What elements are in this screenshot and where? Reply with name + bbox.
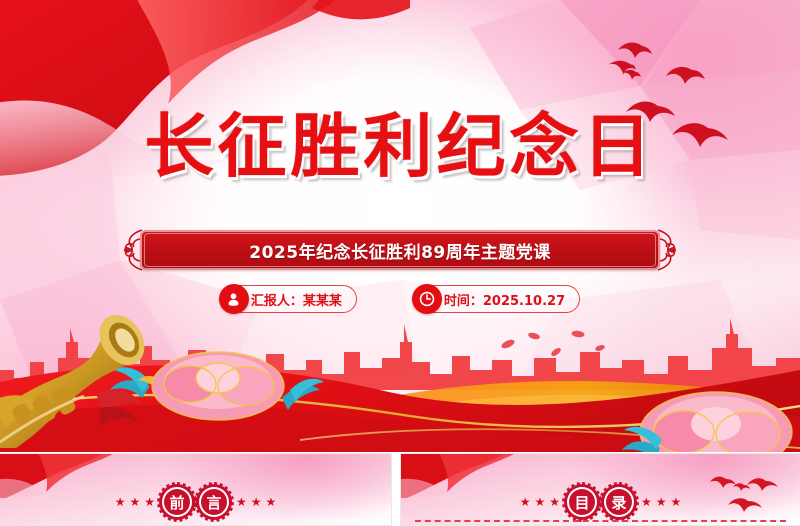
slide-thumbnail-strip: ★ ★ ★ 前 言 ★ ★ ★ — [0, 452, 800, 526]
stars-left: ★ ★ ★ — [520, 496, 560, 508]
person-icon — [219, 284, 249, 314]
seal-char-2: 言 — [199, 487, 229, 517]
stars-left: ★ ★ ★ — [115, 496, 155, 508]
dashed-divider — [415, 520, 786, 522]
stars-right: ★ ★ ★ — [236, 496, 276, 508]
star-icon: ★ — [266, 496, 277, 508]
star-icon: ★ — [251, 496, 262, 508]
star-icon: ★ — [520, 496, 531, 508]
meta-row: 汇报人：某某某 时间：2025.10.27 — [0, 285, 800, 313]
seal-char-2: 录 — [604, 487, 634, 517]
presenter-label: 汇报人：某某某 — [251, 290, 342, 309]
bottom-scenery — [0, 312, 800, 452]
seal-char-1: 前 — [162, 487, 192, 517]
thumbnail-contents[interactable]: ★ ★ ★ 目 录 ★ ★ ★ — [400, 453, 800, 526]
stars-right: ★ ★ ★ — [641, 496, 681, 508]
page-title: 长征胜利纪念日 — [0, 112, 800, 182]
presenter-badge[interactable]: 汇报人：某某某 — [220, 285, 357, 313]
thumbnail-foreword-label: ★ ★ ★ 前 言 ★ ★ ★ — [0, 487, 391, 517]
star-icon: ★ — [144, 496, 155, 508]
star-icon: ★ — [236, 496, 247, 508]
star-icon: ★ — [115, 496, 126, 508]
banner-subtitle: 2025年纪念长征胜利89周年主题党课 — [118, 238, 682, 263]
star-icon: ★ — [129, 496, 140, 508]
star-icon: ★ — [671, 496, 682, 508]
star-icon: ★ — [534, 496, 545, 508]
presentation-window: 长征胜利纪念日 2025年纪念长征胜利 — [0, 0, 800, 526]
clock-icon — [412, 284, 442, 314]
date-label: 时间：2025.10.27 — [444, 290, 565, 309]
seal-char-1: 目 — [567, 487, 597, 517]
subtitle-banner: 2025年纪念长征胜利89周年主题党课 — [118, 228, 682, 272]
thumbnail-foreword[interactable]: ★ ★ ★ 前 言 ★ ★ ★ — [0, 453, 392, 526]
title-slide[interactable]: 长征胜利纪念日 2025年纪念长征胜利 — [0, 0, 800, 452]
thumbnail-contents-label: ★ ★ ★ 目 录 ★ ★ ★ — [401, 487, 800, 517]
star-icon: ★ — [656, 496, 667, 508]
date-badge[interactable]: 时间：2025.10.27 — [413, 285, 580, 313]
title-block: 长征胜利纪念日 — [0, 112, 800, 182]
star-icon: ★ — [641, 496, 652, 508]
star-icon: ★ — [549, 496, 560, 508]
